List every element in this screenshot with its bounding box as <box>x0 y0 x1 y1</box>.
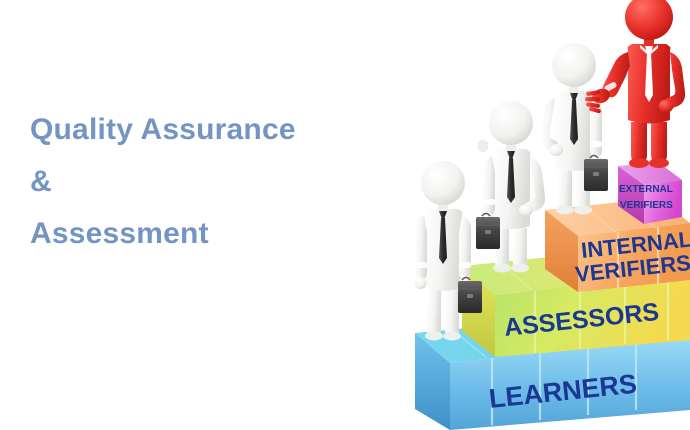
page-title: Quality Assurance & Assessment <box>30 104 360 260</box>
figure-assessor-head <box>489 101 533 145</box>
quality-assurance-staircase-illustration: LEARNERS ASSESSORS <box>390 0 690 430</box>
step-label-external-verifiers-line2: VERIFIERS <box>620 200 673 211</box>
page-title-line-1: Quality Assurance <box>30 104 360 156</box>
figure-assessor-briefcase <box>476 214 500 250</box>
figure-learner-briefcase <box>458 278 482 314</box>
figure-learner-head <box>421 161 465 205</box>
page-title-line-2: & <box>30 156 360 208</box>
figure-internal-verifier-briefcase <box>584 156 608 192</box>
page-title-line-3: Assessment <box>30 208 360 260</box>
step-label-external-verifiers-line1: EXTERNAL <box>619 184 673 195</box>
figure-internal-verifier <box>542 43 608 215</box>
figure-assessor <box>476 101 545 273</box>
figure-internal-verifier-head <box>552 43 596 87</box>
figure-external-verifier-head <box>625 0 673 40</box>
